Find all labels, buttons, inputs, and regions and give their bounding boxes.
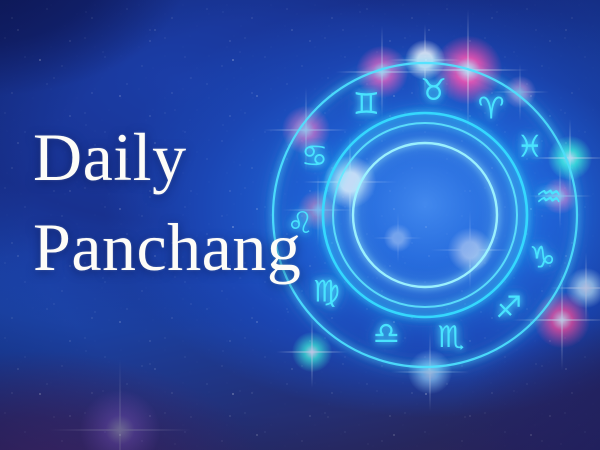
title-line-1: Daily (33, 112, 363, 202)
panchang-banner: ♈♉♊♋♌♍♎♏♐♑♒♓ Daily Panchang (0, 0, 600, 450)
title-line-2: Panchang (33, 202, 363, 292)
page-title: Daily Panchang (33, 112, 363, 292)
